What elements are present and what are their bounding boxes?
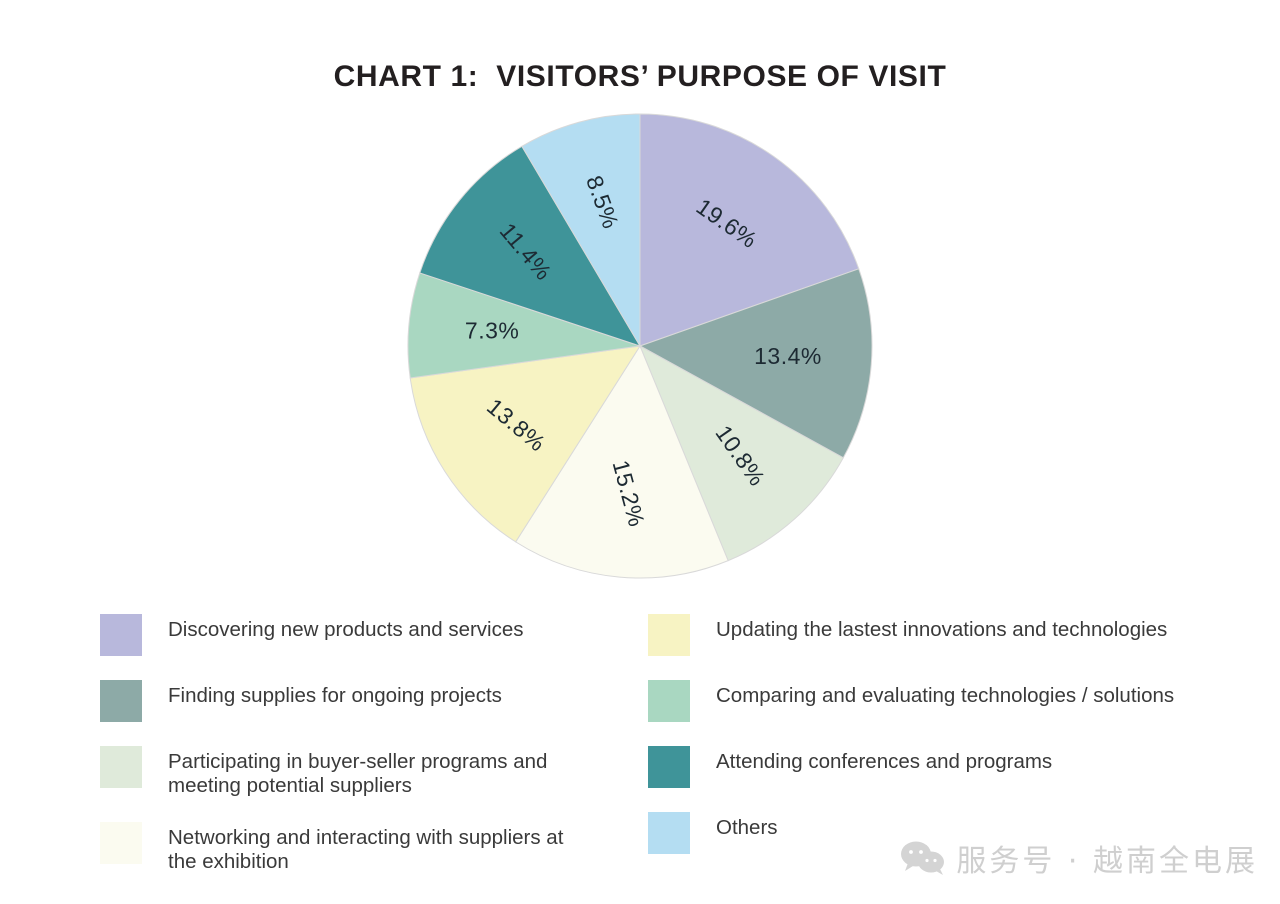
wechat-watermark: 服务号 · 越南全电展 [900, 836, 1258, 880]
legend-item[interactable]: Finding supplies for ongoing projects [100, 678, 640, 722]
wechat-icon [900, 841, 946, 875]
legend-swatch-icon [648, 746, 690, 788]
pie-slice-label: 13.4% [754, 343, 822, 369]
legend-swatch-icon [100, 822, 142, 864]
legend-column-left: Discovering new products and services Fi… [100, 612, 640, 896]
legend-swatch-icon [648, 614, 690, 656]
page-title: CHART 1: VISITORS’ PURPOSE OF VISIT [0, 60, 1280, 94]
legend-item[interactable]: Networking and interacting with supplier… [100, 820, 640, 874]
legend-swatch-icon [100, 614, 142, 656]
legend-item-label: Comparing and evaluating technologies / … [716, 678, 1174, 708]
legend-item-label: Updating the lastest innovations and tec… [716, 612, 1167, 642]
pie-chart-container: 19.6%13.4%10.8%15.2%13.8%7.3%11.4%8.5% [0, 96, 1280, 596]
legend-item[interactable]: Discovering new products and services [100, 612, 640, 656]
legend-item-label: Finding supplies for ongoing projects [168, 678, 502, 708]
legend-swatch-icon [100, 746, 142, 788]
legend-item[interactable]: Comparing and evaluating technologies / … [648, 678, 1248, 722]
legend-item-label: Attending conferences and programs [716, 744, 1052, 774]
legend-swatch-icon [648, 812, 690, 854]
legend-item-label: Discovering new products and services [168, 612, 524, 642]
pie-chart: 19.6%13.4%10.8%15.2%13.8%7.3%11.4%8.5% [380, 96, 900, 596]
legend-item[interactable]: Updating the lastest innovations and tec… [648, 612, 1248, 656]
legend-item-label: Participating in buyer-seller programs a… [168, 744, 547, 798]
legend-item-label: Others [716, 810, 778, 840]
legend-swatch-icon [100, 680, 142, 722]
legend-item[interactable]: Attending conferences and programs [648, 744, 1248, 788]
pie-slice-label: 7.3% [465, 318, 519, 344]
legend-item[interactable]: Participating in buyer-seller programs a… [100, 744, 640, 798]
legend-item-label: Networking and interacting with supplier… [168, 820, 563, 874]
legend-swatch-icon [648, 680, 690, 722]
watermark-text: 服务号 · 越南全电展 [956, 836, 1258, 880]
